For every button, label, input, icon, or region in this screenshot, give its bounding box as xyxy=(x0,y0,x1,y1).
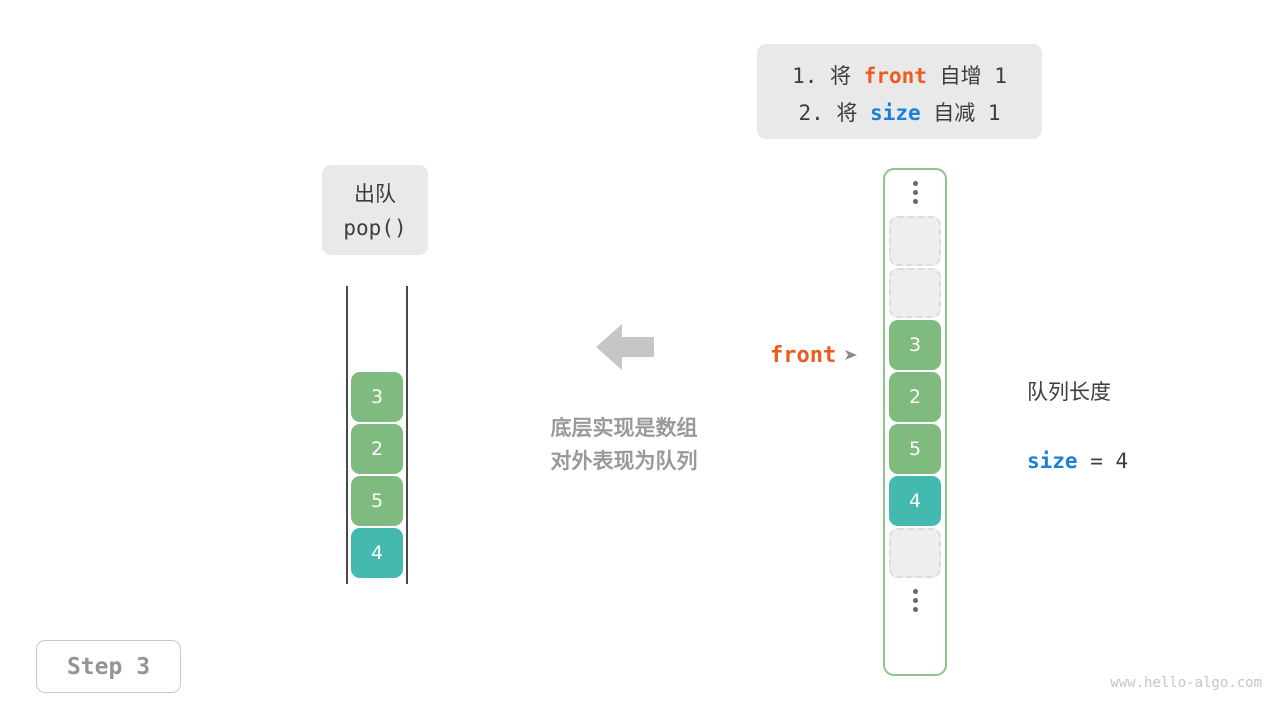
array-value-cell: 5 xyxy=(351,476,403,526)
instruction-line-1-prefix: 1. 将 xyxy=(792,64,864,88)
cell-value: 5 xyxy=(909,438,921,460)
instruction-line-1-suffix: 自增 1 xyxy=(927,64,1007,88)
instruction-line-2-prefix: 2. 将 xyxy=(798,101,870,125)
operation-title: 出队 xyxy=(322,177,428,211)
array-value-cell: 3 xyxy=(889,320,941,370)
array-cells-inner: 3254 xyxy=(889,216,941,578)
physical-array-cells: 3254 xyxy=(889,170,941,624)
array-empty-cell xyxy=(889,268,941,318)
instruction-line-2-keyword: size xyxy=(870,101,921,125)
cell-value: 4 xyxy=(371,542,383,564)
array-value-cell: 5 xyxy=(889,424,941,474)
instruction-line-1: 1. 将 front 自增 1 xyxy=(757,58,1042,95)
step-badge: Step 3 xyxy=(36,640,181,693)
array-top-ellipsis-icon xyxy=(889,170,941,214)
array-value-cell: 3 xyxy=(351,372,403,422)
illustration-canvas: 1. 将 front 自增 1 2. 将 size 自减 1 出队 pop() … xyxy=(0,0,1280,720)
size-annotation-value: size = 4 xyxy=(1027,444,1128,478)
queue-rail-left xyxy=(346,286,348,584)
operation-label-box: 出队 pop() xyxy=(322,165,428,255)
operation-method: pop() xyxy=(322,211,428,245)
center-caption-line-2: 对外表现为队列 xyxy=(498,445,750,478)
flow-arrow-icon xyxy=(596,322,654,372)
array-bottom-ellipsis-icon xyxy=(889,578,941,622)
cell-value: 3 xyxy=(909,334,921,356)
center-caption-line-1: 底层实现是数组 xyxy=(498,412,750,445)
cell-value: 2 xyxy=(371,438,383,460)
step-badge-label: Step 3 xyxy=(67,654,150,680)
array-empty-cell xyxy=(889,216,941,266)
queue-rail-right xyxy=(406,286,408,584)
cell-value: 5 xyxy=(371,490,383,512)
array-value-cell: 2 xyxy=(889,372,941,422)
array-value-cell: 4 xyxy=(889,476,941,526)
front-pointer-arrow-icon xyxy=(845,348,859,366)
size-equals: = xyxy=(1078,449,1116,473)
array-value-cell: 2 xyxy=(351,424,403,474)
array-empty-cell xyxy=(889,528,941,578)
front-pointer: front xyxy=(770,343,859,368)
instruction-line-1-keyword: front xyxy=(864,64,927,88)
watermark: www.hello-algo.com xyxy=(1110,675,1262,691)
center-caption: 底层实现是数组 对外表现为队列 xyxy=(498,412,750,478)
logical-queue-cells: 3254 xyxy=(351,372,403,578)
instruction-line-2: 2. 将 size 自减 1 xyxy=(757,95,1042,132)
instruction-box: 1. 将 front 自增 1 2. 将 size 自减 1 xyxy=(757,44,1042,139)
size-annotation: 队列长度 size = 4 xyxy=(1027,340,1128,514)
logical-queue-view: 3254 xyxy=(345,286,409,584)
cell-value: 3 xyxy=(371,386,383,408)
array-value-cell: 4 xyxy=(351,528,403,578)
size-variable-name: size xyxy=(1027,449,1078,473)
cell-value: 4 xyxy=(909,490,921,512)
physical-array-view: 3254 xyxy=(883,168,947,676)
cell-value: 2 xyxy=(909,386,921,408)
size-annotation-title: 队列长度 xyxy=(1027,376,1128,408)
size-value: 4 xyxy=(1116,449,1129,473)
instruction-line-2-suffix: 自减 1 xyxy=(921,101,1001,125)
front-pointer-label: front xyxy=(770,343,836,368)
